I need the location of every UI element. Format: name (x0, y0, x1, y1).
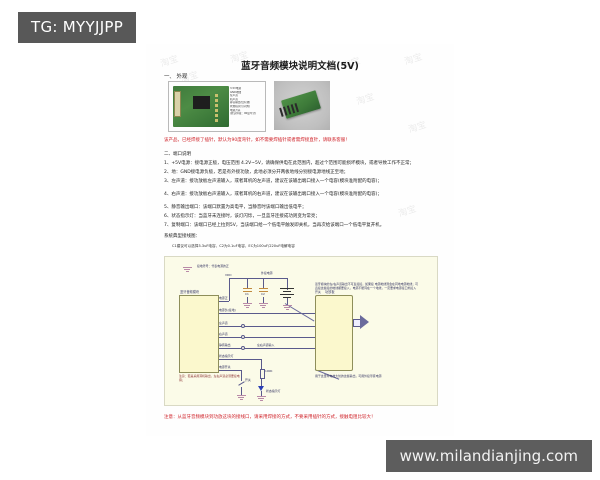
resistor-label: 100K (265, 369, 272, 373)
pin-label: 电源开关 (219, 365, 231, 369)
pcb-photo: 3.5V电源 GND地线 左声道 右声道 静音输出(低有效) 状态指示灯(闪烁)… (168, 81, 266, 132)
switch-label: 开关 (245, 378, 251, 382)
port-item: 6、状态指示灯：当蓝牙未连接时，该灯闪烁，一旦蓝牙连接成功则变为常亮； (164, 214, 320, 220)
bluetooth-module-block (179, 295, 219, 373)
bluetooth-module-label: 蓝牙音频模块 (180, 289, 199, 294)
pcb-annotation: (默认焊接：90度弯针) (230, 112, 263, 116)
ghost-watermark: 淘宝 (396, 202, 417, 220)
pcb-chip-graphic (193, 96, 210, 109)
pin-label: 电源负(接地) (219, 308, 236, 312)
ground-note: 接地符号：代表电源的正 (197, 265, 229, 269)
port-item: 1、+5V电源：接电源正极，电压范围 4.2V~5V，请确保供电在此范围内，超过… (164, 161, 414, 167)
circuit-diagram: 接地符号：代表电源的正 VDD 外接电源 C1 (164, 256, 438, 406)
amplifier-block (315, 295, 353, 371)
port-item: 3、左声道：接功放板左声道输入，或者耳机的左声道，建议在该输出端口接入一个电容(… (164, 179, 382, 185)
battery-label: 外接电源 (261, 271, 273, 275)
tg-badge: TG: MYYJJPP (18, 12, 136, 43)
document-page: 淘宝 淘宝 淘宝 淘宝 淘宝 淘宝 淘宝 淘宝 淘宝 蓝牙音频模块说明文档(5V… (146, 44, 454, 436)
port-item: 5、静音输出端口：该端口默置为高电平，当静音时该端口输出低电平； (164, 205, 306, 211)
typical-circuit-heading: 系统典型接线图： (164, 234, 200, 240)
port-item: 7、复制端口：该端口已经上拉到5V，当该端口给一个低电平触发即关机，当再次给该端… (164, 223, 384, 229)
pcb-board-graphic (173, 86, 229, 127)
pin-label: 右声道 (219, 332, 228, 336)
circuit-note-bottom-left: 注意：若是采用耳机输出，左右声道必须要接电容； (179, 375, 241, 383)
amp-input-label: 左右声道输入 (257, 343, 274, 347)
section-heading-appearance: 一、 外观 (164, 72, 187, 80)
port-item: 2、地：GND接电源负极，若是有外接功放，此地必须分开两板地线分别接电源地线正至… (164, 170, 348, 176)
module-photo (274, 81, 330, 130)
c1-label: C1 (245, 292, 249, 296)
port-item: 4、右声道：接功放板右声道输入，或者耳机的右声道，建议在该输出端口接入一个电容(… (164, 192, 382, 198)
vdd-label: VDD (225, 273, 231, 277)
pin-label: 状态指示灯 (219, 354, 233, 358)
led-symbol (258, 386, 264, 391)
site-watermark: www.milandianjing.com (386, 440, 592, 472)
pin-label: 静音输出 (219, 343, 231, 347)
section-heading-ports: 二、端口说明 (164, 152, 191, 158)
document-title: 蓝牙音频模块说明文档(5V) (146, 58, 454, 72)
red-notice-bottom: 注意：从蓝牙音频模块到功放这块的接线口，请采用焊接的方式，不要采用插针的方式，接… (164, 415, 376, 421)
ghost-watermark: 淘宝 (354, 90, 375, 108)
circuit-note-bottom-right: 用于这里导电放大处的这些输出，可用外接带音电源 (315, 375, 415, 379)
pcb-photo-annotations: 3.5V电源 GND地线 左声道 右声道 静音输出(低有效) 状态指示灯(闪烁)… (230, 87, 263, 116)
red-notice-top: 该产品，已经焊接了插针，默认为90度弯针，如不需要焊插针或者需焊接直针，请联系客… (164, 138, 350, 144)
pcb-header-graphic (174, 91, 181, 117)
capacitor-note: C1建议可以选择3.3uF电容，C2为0.1uF电容，EC为100uF/220u… (172, 244, 295, 249)
pin-label: 左声道 (219, 321, 228, 325)
c2-label: C2 (261, 292, 265, 296)
pin-label: 电源正 (219, 296, 228, 300)
ghost-watermark: 淘宝 (406, 118, 427, 136)
led-label: 状态指示灯 (266, 389, 280, 393)
circuit-note-right: 蓝牙模块的左/右声道输出不可直接接，如果接 电源地线则会在同地电源地线；可直接这… (315, 283, 419, 295)
